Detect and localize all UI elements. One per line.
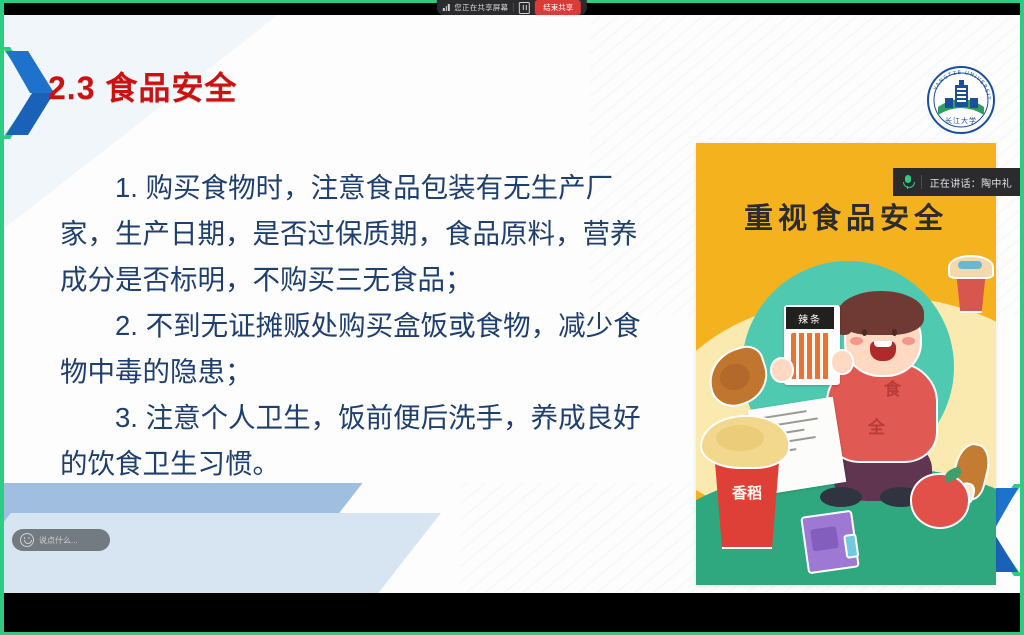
- snack-sticks: [791, 333, 829, 379]
- boy-cheek-left: [850, 337, 863, 345]
- shirt-character-1: 食: [884, 375, 901, 400]
- shirt-character-2: 全: [868, 413, 885, 438]
- body-paragraph-1: 1. 购买食物时，注意食品包装有无生产厂家，生产日期，是否过保质期，食品原料，营…: [60, 165, 660, 303]
- body-paragraph-3: 3. 注意个人卫生，饭前便后洗手，养成良好的饮食卫生习惯。: [60, 395, 660, 487]
- food-safety-poster: 重视食品安全 食 全 辣条: [696, 143, 996, 585]
- microphone-icon: [903, 175, 913, 189]
- screen-share-toolbar[interactable]: 您正在共享屏幕 结束共享: [437, 0, 587, 15]
- svg-text:长江大学: 长江大学: [945, 116, 977, 125]
- sharing-status-text: 您正在共享屏幕: [454, 2, 508, 13]
- poster-headline: 重视食品安全: [696, 195, 996, 237]
- comment-input[interactable]: 说点什么...: [12, 529, 110, 551]
- toolbar-divider: [513, 3, 514, 12]
- boy-hand-right: [830, 349, 854, 375]
- boy-eye-left: [862, 329, 867, 336]
- speaker-name-label: 正在讲话：陶中礼: [930, 175, 1012, 190]
- shared-screen: 您正在共享屏幕 结束共享 2: [0, 0, 1024, 635]
- smiley-face-icon[interactable]: [20, 533, 34, 547]
- body-paragraph-2: 2. 不到无证摊贩处购买盒饭或食物，减少食物中毒的隐患；: [60, 303, 660, 395]
- boy-cheek-right: [902, 337, 915, 345]
- milk-carton: [800, 510, 860, 575]
- cupcake-frosting: [948, 255, 994, 279]
- comment-placeholder: 说点什么...: [39, 535, 78, 546]
- boy-mouth: [870, 341, 896, 361]
- boy-shoe-left: [820, 487, 862, 507]
- page-title: 2.3 食品安全: [48, 63, 237, 109]
- slide-body-text: 1. 购买食物时，注意食品包装有无生产厂家，生产日期，是否过保质期，食品原料，营…: [60, 165, 660, 487]
- presentation-slide: 2.3 食品安全 YANGTZE UNIVERSITY 长江大学: [4, 15, 1020, 593]
- boy-hand-left: [770, 357, 794, 383]
- signal-bars-icon: [443, 4, 450, 11]
- apple-illustration: [910, 473, 970, 529]
- yangtze-university-logo: YANGTZE UNIVERSITY 长江大学: [926, 65, 996, 135]
- popcorn-overflow: [700, 415, 790, 469]
- end-share-button[interactable]: 结束共享: [535, 0, 581, 15]
- share-border-right: [1020, 0, 1024, 635]
- speaker-badge-divider: [921, 175, 922, 189]
- popcorn-bucket-label: 香稻: [710, 481, 784, 505]
- snack-bag-label: 辣条: [786, 307, 834, 329]
- boy-hair: [838, 291, 924, 335]
- active-speaker-badge: 正在讲话：陶中礼: [893, 168, 1024, 196]
- pause-share-icon[interactable]: [519, 2, 530, 14]
- background-band-light: [4, 513, 441, 593]
- boy-eye-right: [892, 329, 897, 336]
